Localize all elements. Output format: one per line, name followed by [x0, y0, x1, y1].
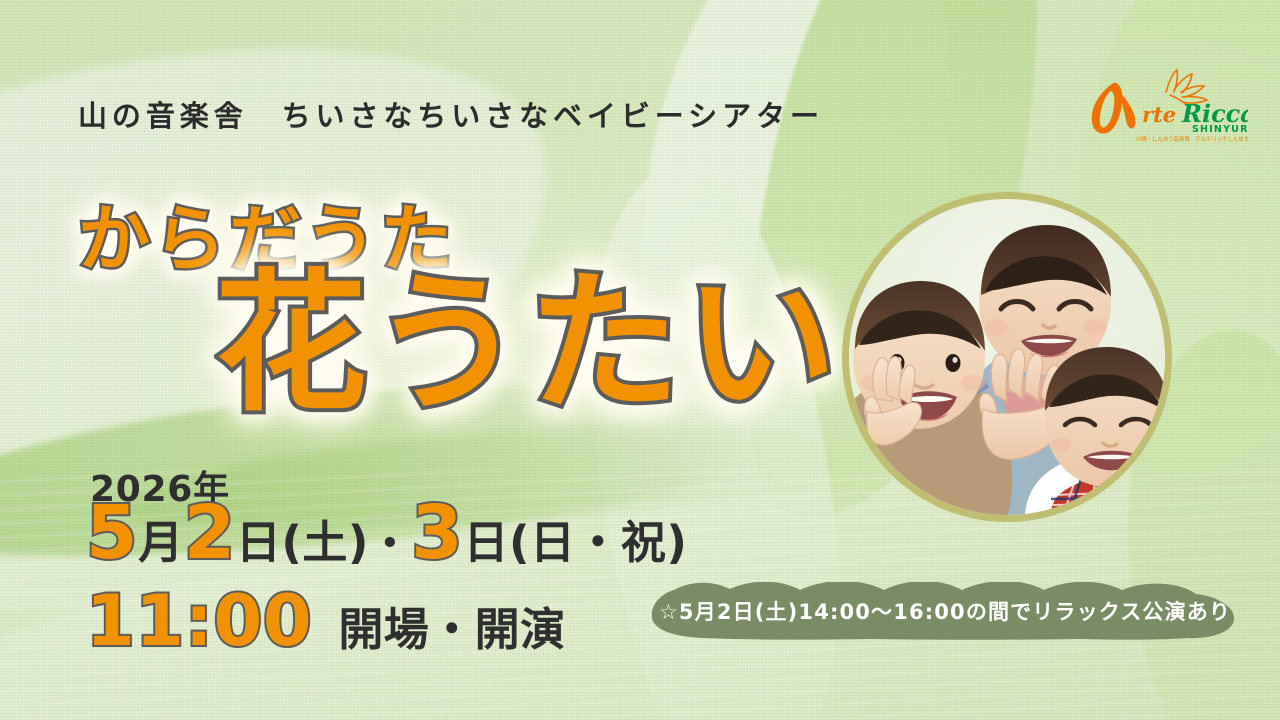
poster-subtitle: 山の音楽舎 ちいさなちいさなベイビーシアター: [78, 93, 824, 135]
event-time: 11:00開場・開演: [86, 586, 566, 656]
svg-text:rte: rte: [1142, 102, 1176, 127]
event-date: 5月2日(土)・3日(日・祝): [86, 496, 687, 570]
date-day1-number: 2: [184, 490, 236, 576]
banner-text: ☆5月2日(土)14:00〜16:00の間でリラックス公演あり: [640, 582, 1250, 640]
baby-photo: [849, 199, 1165, 515]
relax-performance-banner: ☆5月2日(土)14:00〜16:00の間でリラックス公演あり: [640, 582, 1250, 640]
date-separator: ・: [369, 519, 411, 568]
baby-photo-frame: [842, 192, 1172, 522]
date-day1-label: 日(土): [236, 516, 369, 569]
title-hanautai: 花うたい: [215, 268, 841, 420]
arte-ricca-logo: rte Ricca SHINYURI 川崎・しんゆり芸術祭 アルテリッチしんゆり: [1078, 62, 1248, 150]
poster-canvas: 山の音楽舎 ちいさなちいさなベイビーシアター rte Ricca SHINYUR…: [0, 0, 1280, 720]
date-day2-number: 3: [411, 490, 463, 576]
date-month-kanji: 月: [138, 516, 183, 569]
date-day2-label: 日(日・祝): [464, 516, 688, 569]
time-value: 11:00: [86, 580, 312, 662]
svg-text:川崎・しんゆり芸術祭 アルテリッチしんゆり: 川崎・しんゆり芸術祭 アルテリッチしんゆり: [1136, 135, 1248, 143]
time-label: 開場・開演: [338, 603, 565, 656]
date-month-number: 5: [86, 490, 138, 576]
svg-text:SHINYURI: SHINYURI: [1192, 124, 1248, 135]
